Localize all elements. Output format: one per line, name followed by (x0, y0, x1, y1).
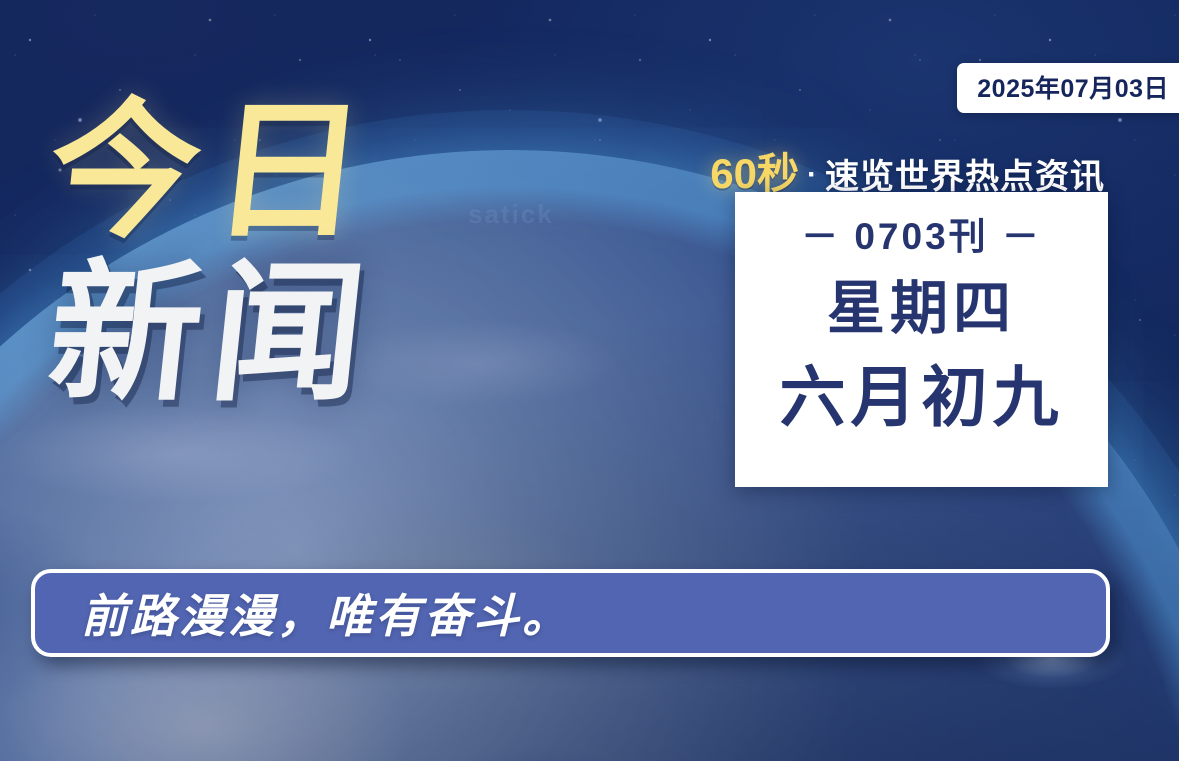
background-watermark: satick (468, 199, 554, 230)
title-line-today: 今日 (42, 96, 386, 246)
date-info-card: － 0703刊 － 星期四 六月初九 (735, 192, 1108, 487)
page-title: 今日 新闻 (50, 96, 378, 410)
weekday-label: 星期四 (827, 280, 1016, 338)
lunar-date-label: 六月初九 (780, 364, 1064, 430)
quote-banner: 前路漫漫，唯有奋斗。 (31, 569, 1110, 657)
date-badge: 2025年07月03日 (957, 63, 1179, 113)
news-poster: satick 2025年07月03日 60秒 · 速览世界热点资讯 今日 新闻 … (0, 0, 1179, 761)
tagline-description: 速览世界热点资讯 (825, 149, 1105, 198)
issue-number: － 0703刊 － (801, 206, 1042, 260)
quote-text: 前路漫漫，唯有奋斗。 (35, 580, 571, 646)
title-line-news: 新闻 (42, 258, 386, 410)
tagline-separator-icon: · (807, 158, 817, 192)
